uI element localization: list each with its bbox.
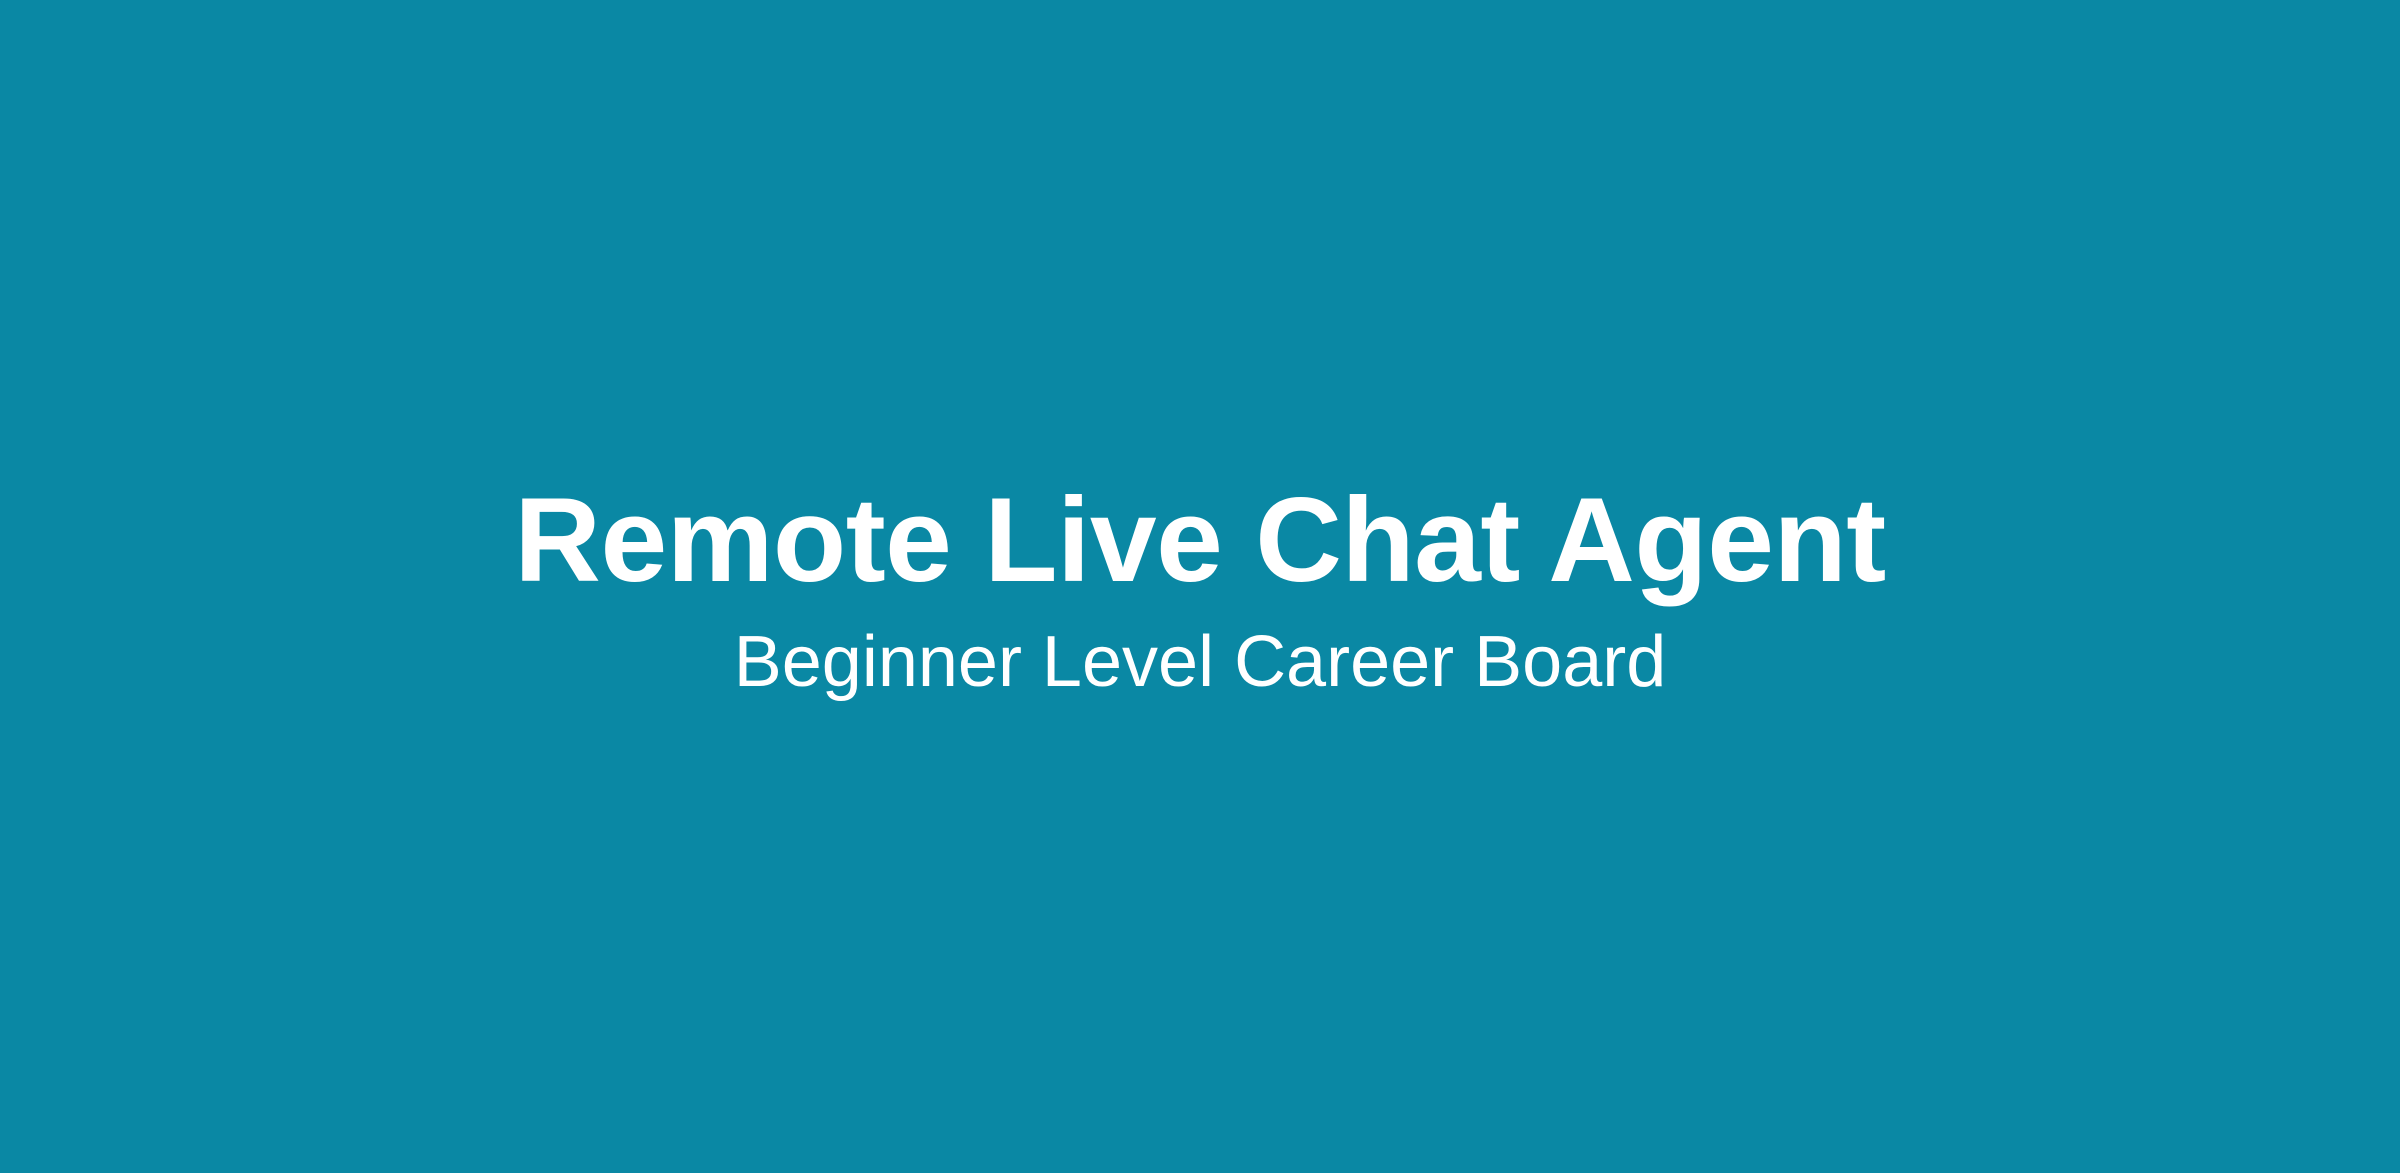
banner-text-block: Remote Live Chat Agent Beginner Level Ca… [0,480,2400,698]
page-title: Remote Live Chat Agent [514,480,1885,600]
page-subtitle: Beginner Level Career Board [734,626,1667,698]
career-board-banner: Remote Live Chat Agent Beginner Level Ca… [0,0,2400,1173]
